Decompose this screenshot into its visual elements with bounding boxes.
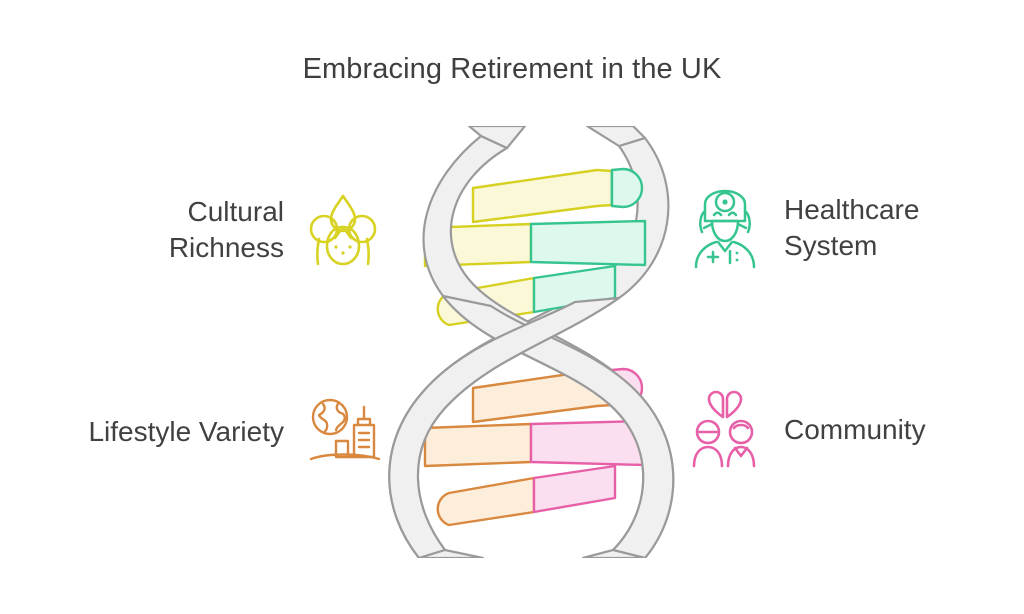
globe-city-icon — [304, 390, 382, 474]
feature-label-healthcare-system: Healthcare System — [784, 192, 919, 264]
feature-label-lifestyle-variety: Lifestyle Variety — [88, 414, 284, 450]
feature-healthcare-system: Healthcare System — [686, 186, 986, 270]
dna-helix-graphic — [383, 126, 685, 558]
feature-lifestyle-variety: Lifestyle Variety — [40, 390, 382, 474]
flower-crown-face-icon — [304, 188, 382, 272]
feature-community: Community — [686, 388, 986, 472]
doctor-icon — [686, 186, 764, 270]
page-title: Embracing Retirement in the UK — [0, 49, 1024, 89]
feature-cultural-richness: Cultural Richness — [110, 188, 382, 272]
two-people-heart-icon — [686, 388, 764, 472]
feature-label-community: Community — [784, 412, 926, 448]
feature-label-cultural-richness: Cultural Richness — [169, 194, 284, 266]
infographic-canvas: Embracing Retirement in the UK — [0, 0, 1024, 614]
